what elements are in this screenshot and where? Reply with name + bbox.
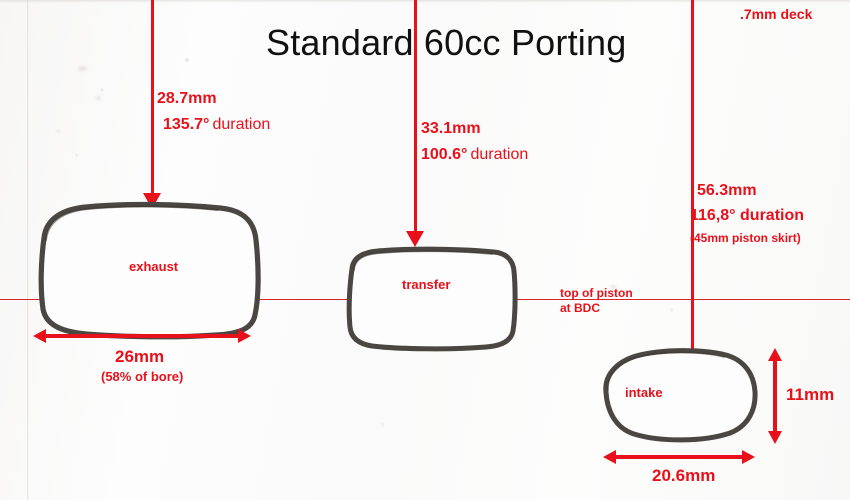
intake-port-shape	[598, 344, 764, 450]
intake-skirt-note: (45mm piston skirt)	[690, 231, 801, 245]
intake-height-value: 56.3mm	[697, 182, 757, 200]
exhaust-height-label: 28.7mm	[157, 90, 217, 108]
intake-duration-value: 116,8°	[690, 207, 736, 224]
transfer-duration-value: 100.6°	[421, 146, 467, 164]
intake-port-height-value: 11mm	[786, 385, 834, 405]
arrow-bar	[610, 455, 748, 459]
exhaust-duration-label: 135.7° duration	[163, 116, 270, 134]
transfer-measure-line	[414, 0, 417, 233]
exhaust-width-dimension-arrow	[33, 329, 251, 343]
paper-speck-3	[56, 130, 60, 133]
intake-duration-word: duration	[740, 207, 804, 224]
intake-duration-label: 116,8° duration	[690, 207, 804, 225]
intake-width-value: 20.6mm	[652, 466, 715, 486]
exhaust-width-value: 26mm	[115, 347, 164, 367]
transfer-duration-word: duration	[470, 146, 528, 164]
exhaust-duration-word: duration	[212, 116, 270, 134]
arrow-head-right	[742, 450, 755, 464]
transfer-port-label: transfer	[402, 277, 450, 292]
exhaust-height-value: 28.7mm	[157, 90, 217, 107]
transfer-port-shape	[342, 243, 522, 355]
paper-edge-top	[0, 0, 850, 3]
transfer-duration-label: 100.6° duration	[421, 146, 528, 164]
exhaust-width-note: (58% of bore)	[101, 369, 183, 384]
bdc-label-line1: top of piston	[560, 286, 633, 300]
arrow-bar	[773, 355, 777, 437]
transfer-height-label: 33.1mm	[421, 120, 481, 138]
intake-height-dimension-arrow	[768, 348, 782, 444]
paper-speck-1	[78, 66, 87, 71]
deck-label: .7mm deck	[740, 6, 812, 22]
paper-edge-left	[27, 0, 29, 500]
intake-port-label: intake	[625, 385, 663, 400]
arrow-bar	[40, 334, 244, 338]
transfer-height-value: 33.1mm	[421, 120, 481, 137]
bdc-label-line2: at BDC	[560, 301, 600, 315]
exhaust-port-label: exhaust	[129, 259, 178, 274]
porting-diagram-canvas: Standard 60cc Porting .7mm deck top of p…	[0, 0, 850, 500]
arrow-head-bottom	[768, 431, 782, 444]
intake-width-dimension-arrow	[603, 450, 755, 464]
exhaust-measure-line	[151, 0, 154, 195]
arrow-head-right	[238, 329, 251, 343]
exhaust-duration-value: 135.7°	[163, 116, 209, 134]
page-title: Standard 60cc Porting	[266, 22, 626, 64]
paper-speck-2	[96, 96, 101, 100]
